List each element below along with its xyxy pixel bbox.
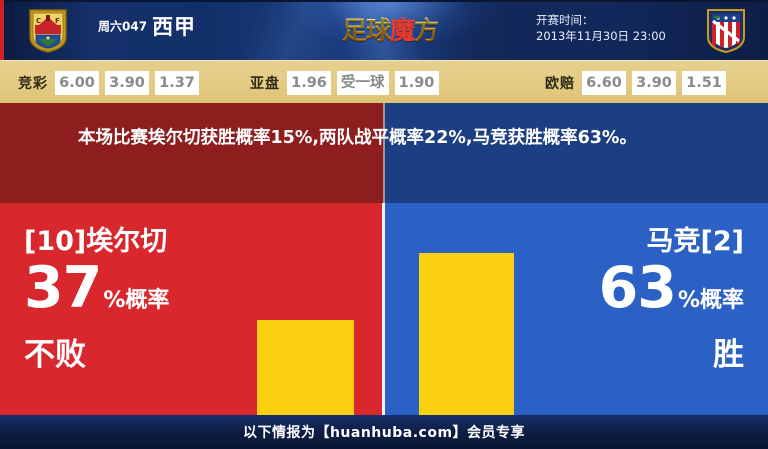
odds-group-yapan: 亚盘 1.96 受一球 1.90 [250,61,445,104]
probability-summary-text: 本场比赛埃尔切获胜概率15%,两队战平概率22%,马竞获胜概率63%。 [78,123,698,154]
match-info: 周六047西甲 [98,11,196,41]
header-top-line [0,0,768,2]
odds-value-cell[interactable]: 1.37 [155,71,199,95]
odds-bar: 竞彩 6.00 3.90 1.37 亚盘 1.96 受一球 1.90 欧赔 6.… [0,60,768,104]
away-team-crest-icon [704,7,748,54]
away-percent-row: 63%概率 [599,259,744,331]
footer-membership-notice: 以下情报为【huanhuba.com】会员专享 [243,422,525,442]
away-percent-value: 63 [599,255,676,321]
home-percent-row: 37%概率 [24,259,169,331]
home-team-name: [10]埃尔切 [24,225,169,259]
home-percent-value: 37 [24,255,101,321]
header-left-accent [0,0,4,60]
site-logo-text: 足球魔方 [342,11,438,47]
odds-handicap-cell[interactable]: 受一球 [337,71,389,95]
header-bar: C F 周六047西甲 足球魔方 开赛时间： 2013年11月30日 23:00 [0,0,768,60]
logo-part-2: 魔 [390,16,414,45]
away-outcome-label: 胜 [599,335,744,375]
match-probability-infographic: C F 周六047西甲 足球魔方 开赛时间： 2013年11月30日 23:00 [0,0,768,449]
away-probability-bar [419,253,514,415]
away-team-name: 马竞[2] [599,225,744,259]
probability-summary-banner: 本场比赛埃尔切获胜概率15%,两队战平概率22%,马竞获胜概率63%。 [0,103,768,203]
svg-text:C: C [36,17,41,25]
kickoff-time-block: 开赛时间： 2013年11月30日 23:00 [536,12,666,44]
odds-value-cell[interactable]: 1.96 [287,71,331,95]
panel-divider [382,203,385,415]
odds-value-cell[interactable]: 6.00 [55,71,99,95]
odds-value-cell[interactable]: 3.90 [632,71,676,95]
round-number: 周六047 [98,20,147,34]
home-team-crest-icon: C F [26,7,70,54]
svg-text:F: F [55,17,60,25]
odds-group-label: 竞彩 [18,73,48,93]
odds-value-cell[interactable]: 1.90 [395,71,439,95]
kickoff-value: 2013年11月30日 23:00 [536,28,666,44]
home-outcome-label: 不败 [24,335,169,375]
probability-chart: [10]埃尔切 37%概率 不败 马竞[2] 63%概率 胜 [0,203,768,415]
kickoff-label: 开赛时间： [536,12,666,28]
home-percent-suffix: %概率 [103,288,169,313]
home-stats: [10]埃尔切 37%概率 不败 [24,225,169,375]
league-name: 西甲 [152,15,196,39]
logo-part-3: 方 [414,16,438,45]
logo-part-1: 足球 [342,16,390,45]
odds-group-label: 欧赔 [545,73,575,93]
odds-value-cell[interactable]: 6.60 [582,71,626,95]
odds-group-oupei: 欧赔 6.60 3.90 1.51 [545,61,732,104]
odds-value-cell[interactable]: 3.90 [105,71,149,95]
odds-group-label: 亚盘 [250,73,280,93]
site-logo[interactable]: 足球魔方 [330,8,450,50]
away-percent-suffix: %概率 [678,288,744,313]
odds-group-jingcai: 竞彩 6.00 3.90 1.37 [18,61,205,104]
odds-value-cell[interactable]: 1.51 [682,71,726,95]
away-stats: 马竞[2] 63%概率 胜 [599,225,744,375]
home-probability-bar [257,320,354,415]
footer-bar: 以下情报为【huanhuba.com】会员专享 [0,415,768,449]
